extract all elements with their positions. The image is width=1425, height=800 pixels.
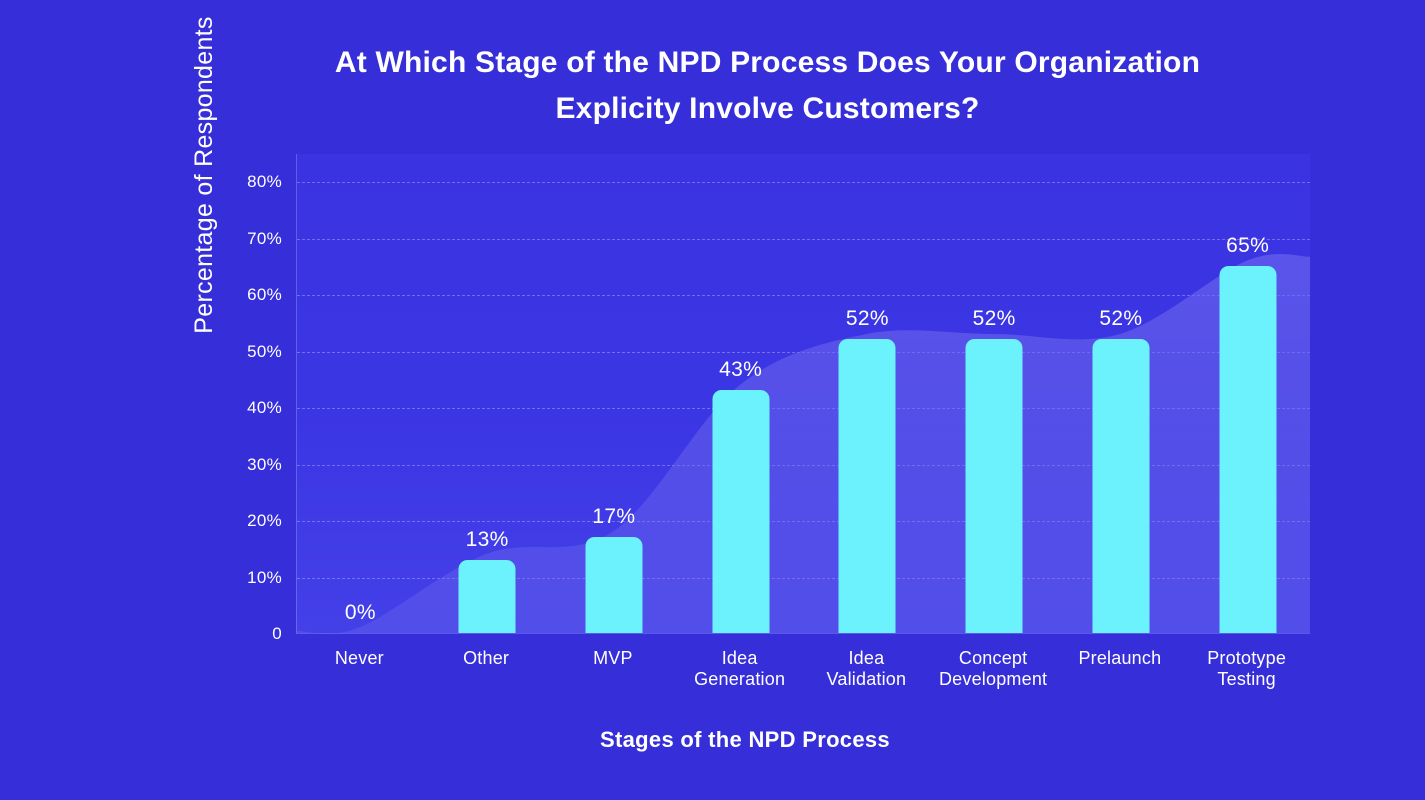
bar-slot[interactable]: 17% xyxy=(566,154,662,633)
bar-value-label: 52% xyxy=(973,307,1016,331)
bar-slot[interactable]: 43% xyxy=(693,154,789,633)
chart-canvas: At Which Stage of the NPD Process Does Y… xyxy=(0,0,1425,800)
y-axis-tick-label: 70% xyxy=(222,229,282,249)
bar[interactable] xyxy=(1092,339,1149,633)
plot-area: 0%13%17%43%52%52%52%65% xyxy=(296,154,1310,634)
bar[interactable] xyxy=(966,339,1023,633)
y-axis-tick-label: 60% xyxy=(222,285,282,305)
chart-title: At Which Stage of the NPD Process Does Y… xyxy=(200,40,1335,132)
bar-slot[interactable]: 52% xyxy=(819,154,915,633)
bar-value-label: 13% xyxy=(466,528,509,552)
chart-title-line-2: Explicity Involve Customers? xyxy=(200,86,1335,132)
bar-value-label: 0% xyxy=(345,601,376,625)
y-axis-tick-label: 30% xyxy=(222,455,282,475)
bar[interactable] xyxy=(1219,266,1276,633)
bar[interactable] xyxy=(585,537,642,633)
bar-value-label: 52% xyxy=(1099,307,1142,331)
bar[interactable] xyxy=(459,560,516,633)
y-axis-tick-label: 20% xyxy=(222,511,282,531)
y-axis-tick-label: 40% xyxy=(222,398,282,418)
x-axis-tick-label-line: Prototype xyxy=(1172,648,1322,669)
x-axis-title: Stages of the NPD Process xyxy=(305,727,1185,753)
bar-value-label: 43% xyxy=(719,358,762,382)
x-axis-tick-label-line: Testing xyxy=(1172,669,1322,690)
y-axis-tick-label: 50% xyxy=(222,342,282,362)
y-axis-tick-label: 10% xyxy=(222,568,282,588)
bar-slot[interactable]: 13% xyxy=(439,154,535,633)
y-axis-tick-label: 0 xyxy=(222,624,282,644)
y-axis-tick-label: 80% xyxy=(222,172,282,192)
bar[interactable] xyxy=(712,390,769,633)
chart-title-line-1: At Which Stage of the NPD Process Does Y… xyxy=(200,40,1335,86)
bar-slot[interactable]: 0% xyxy=(312,154,408,633)
bar-value-label: 17% xyxy=(592,505,635,529)
x-axis-tick-label: PrototypeTesting xyxy=(1172,648,1322,690)
bar-slot[interactable]: 52% xyxy=(1073,154,1169,633)
x-axis-tick-label-line: Development xyxy=(918,669,1068,690)
bar-slot[interactable]: 65% xyxy=(1200,154,1296,633)
bar-value-label: 52% xyxy=(846,307,889,331)
bar-slot[interactable]: 52% xyxy=(946,154,1042,633)
bar[interactable] xyxy=(839,339,896,633)
bar-value-label: 65% xyxy=(1226,234,1269,258)
